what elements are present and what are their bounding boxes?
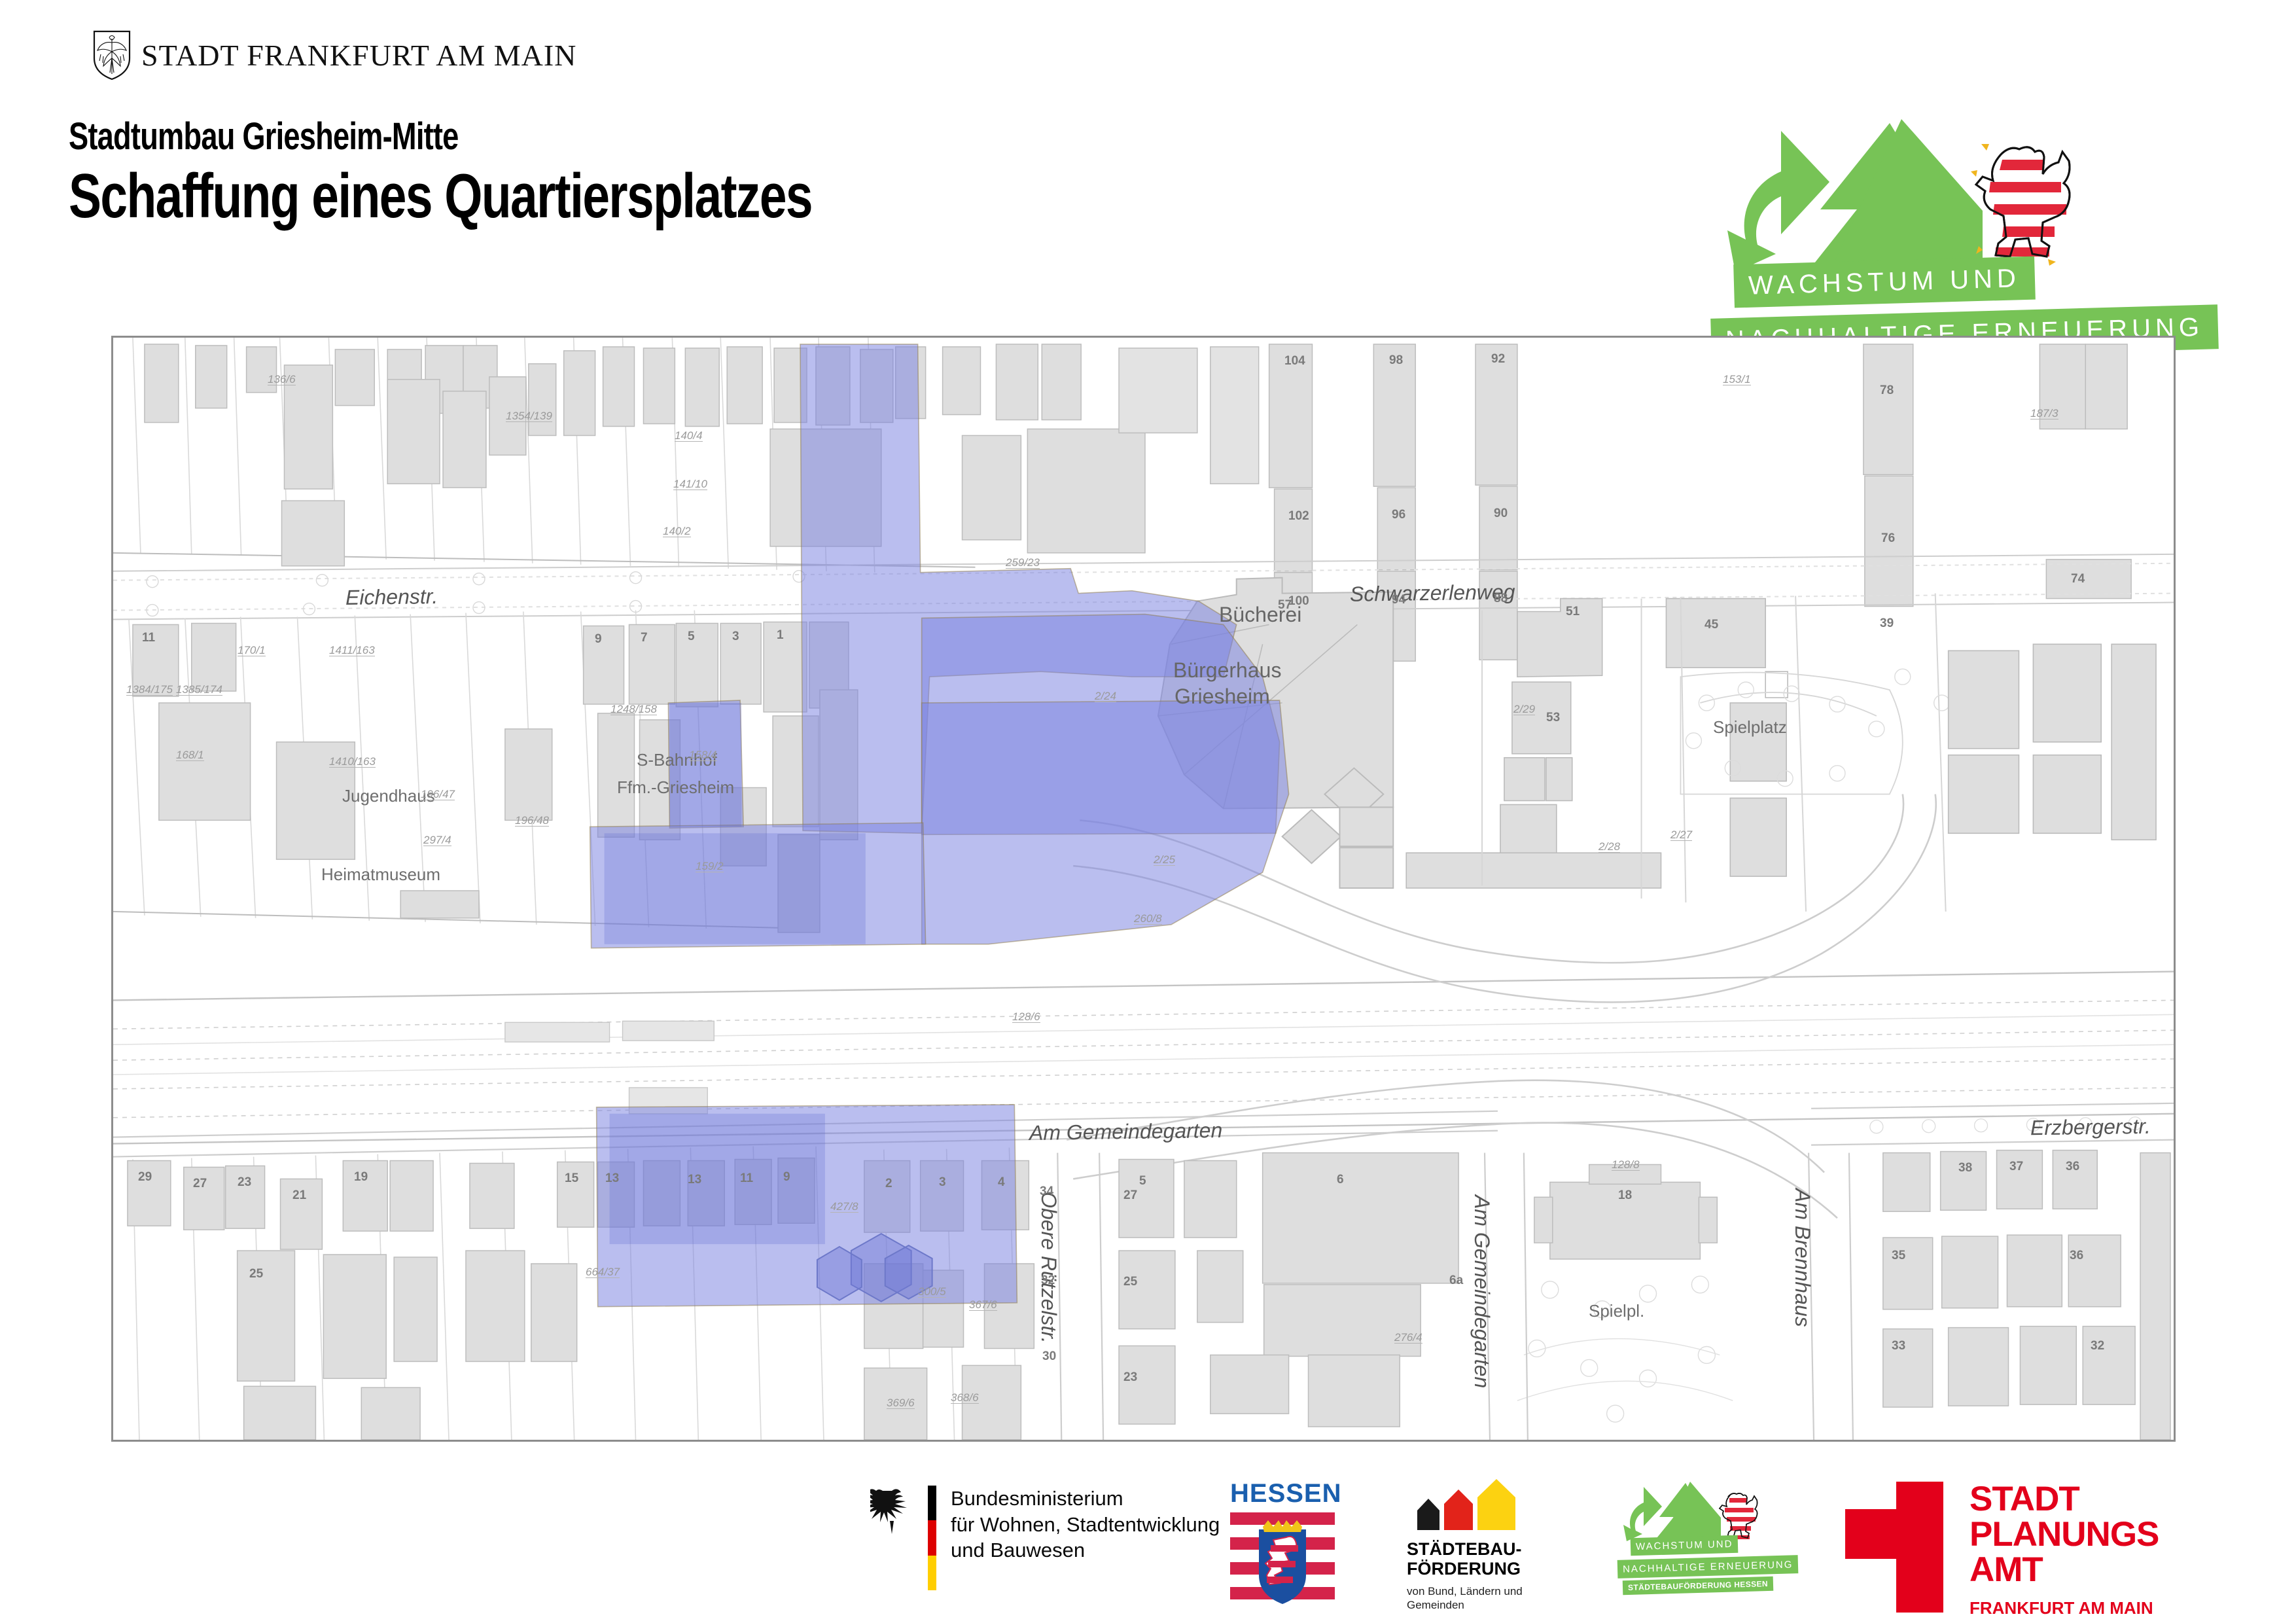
bundesadler-icon bbox=[870, 1486, 913, 1538]
page-header: STADT FRANKFURT AM MAIN Stadtumbau Gries… bbox=[0, 0, 2296, 327]
city-logo: STADT FRANKFURT AM MAIN bbox=[92, 29, 576, 80]
staedtebau-line1: STÄDTEBAU- bbox=[1407, 1539, 1570, 1559]
staedtebau-sub: von Bund, Ländern und Gemeinden bbox=[1407, 1585, 1570, 1612]
wachstum-small-line1: WACHSTUM UND bbox=[1631, 1535, 1739, 1556]
bmwsb-line1: Bundesministerium bbox=[951, 1486, 1220, 1512]
spa-line2: PLANUNGS bbox=[1969, 1517, 2159, 1552]
staedtebau-line4: Gemeinden bbox=[1407, 1599, 1570, 1612]
spa-line1: STADT bbox=[1969, 1482, 2159, 1517]
hessen-lion-small-icon bbox=[1720, 1493, 1757, 1539]
hessen-logo: HESSEN bbox=[1230, 1479, 1335, 1614]
map-drawing bbox=[113, 338, 2174, 1440]
page-title: Schaffung eines Quartiersplatzes bbox=[69, 160, 812, 232]
stadtplanungsamt-logo: STADT PLANUNGS AMT FRANKFURT AM MAIN bbox=[1845, 1482, 2159, 1617]
spa-line4: FRANKFURT AM MAIN bbox=[1969, 1599, 2159, 1617]
three-houses-icon bbox=[1407, 1479, 1570, 1530]
bmwsb-line3: und Bauwesen bbox=[951, 1537, 1220, 1563]
bmwsb-line2: für Wohnen, Stadtentwicklung bbox=[951, 1512, 1220, 1538]
staedtebaufoerderung-logo: STÄDTEBAU- FÖRDERUNG von Bund, Ländern u… bbox=[1407, 1479, 1570, 1612]
staedtebau-title: STÄDTEBAU- FÖRDERUNG bbox=[1407, 1539, 1570, 1578]
wachstum-logo-small: WACHSTUM UND NACHHALTIGE ERNEUERUNG STÄD… bbox=[1616, 1479, 1806, 1597]
city-logo-text: STADT FRANKFURT AM MAIN bbox=[141, 38, 576, 73]
bmwsb-logo: Bundesministerium für Wohnen, Stadtentwi… bbox=[870, 1486, 1220, 1590]
bmwsb-text: Bundesministerium für Wohnen, Stadtentwi… bbox=[951, 1486, 1220, 1563]
frankfurt-eagle-crest-icon bbox=[92, 29, 132, 80]
hessen-wordmark: HESSEN bbox=[1230, 1479, 1335, 1508]
program-logo-line1: WACHSTUM UND bbox=[1733, 257, 2035, 308]
cadastral-map[interactable]: Eichenstr. Schwarzerlenweg Erzbergerstr.… bbox=[111, 336, 2176, 1442]
staedtebau-line2: FÖRDERUNG bbox=[1407, 1559, 1570, 1578]
spa-line3: AMT bbox=[1969, 1552, 2159, 1588]
hessen-coat-of-arms-icon bbox=[1230, 1512, 1335, 1611]
footer-logo-bar: Bundesministerium für Wohnen, Stadtentwi… bbox=[0, 1472, 2296, 1623]
spa-red-mark-icon bbox=[1845, 1482, 1943, 1613]
staedtebau-line3: von Bund, Ländern und bbox=[1407, 1585, 1570, 1598]
spa-words: STADT PLANUNGS AMT FRANKFURT AM MAIN bbox=[1969, 1482, 2159, 1617]
german-flag-bar-icon bbox=[928, 1486, 936, 1590]
subtitle: Stadtumbau Griesheim-Mitte bbox=[69, 115, 459, 158]
hessen-lion-icon bbox=[1971, 144, 2070, 266]
